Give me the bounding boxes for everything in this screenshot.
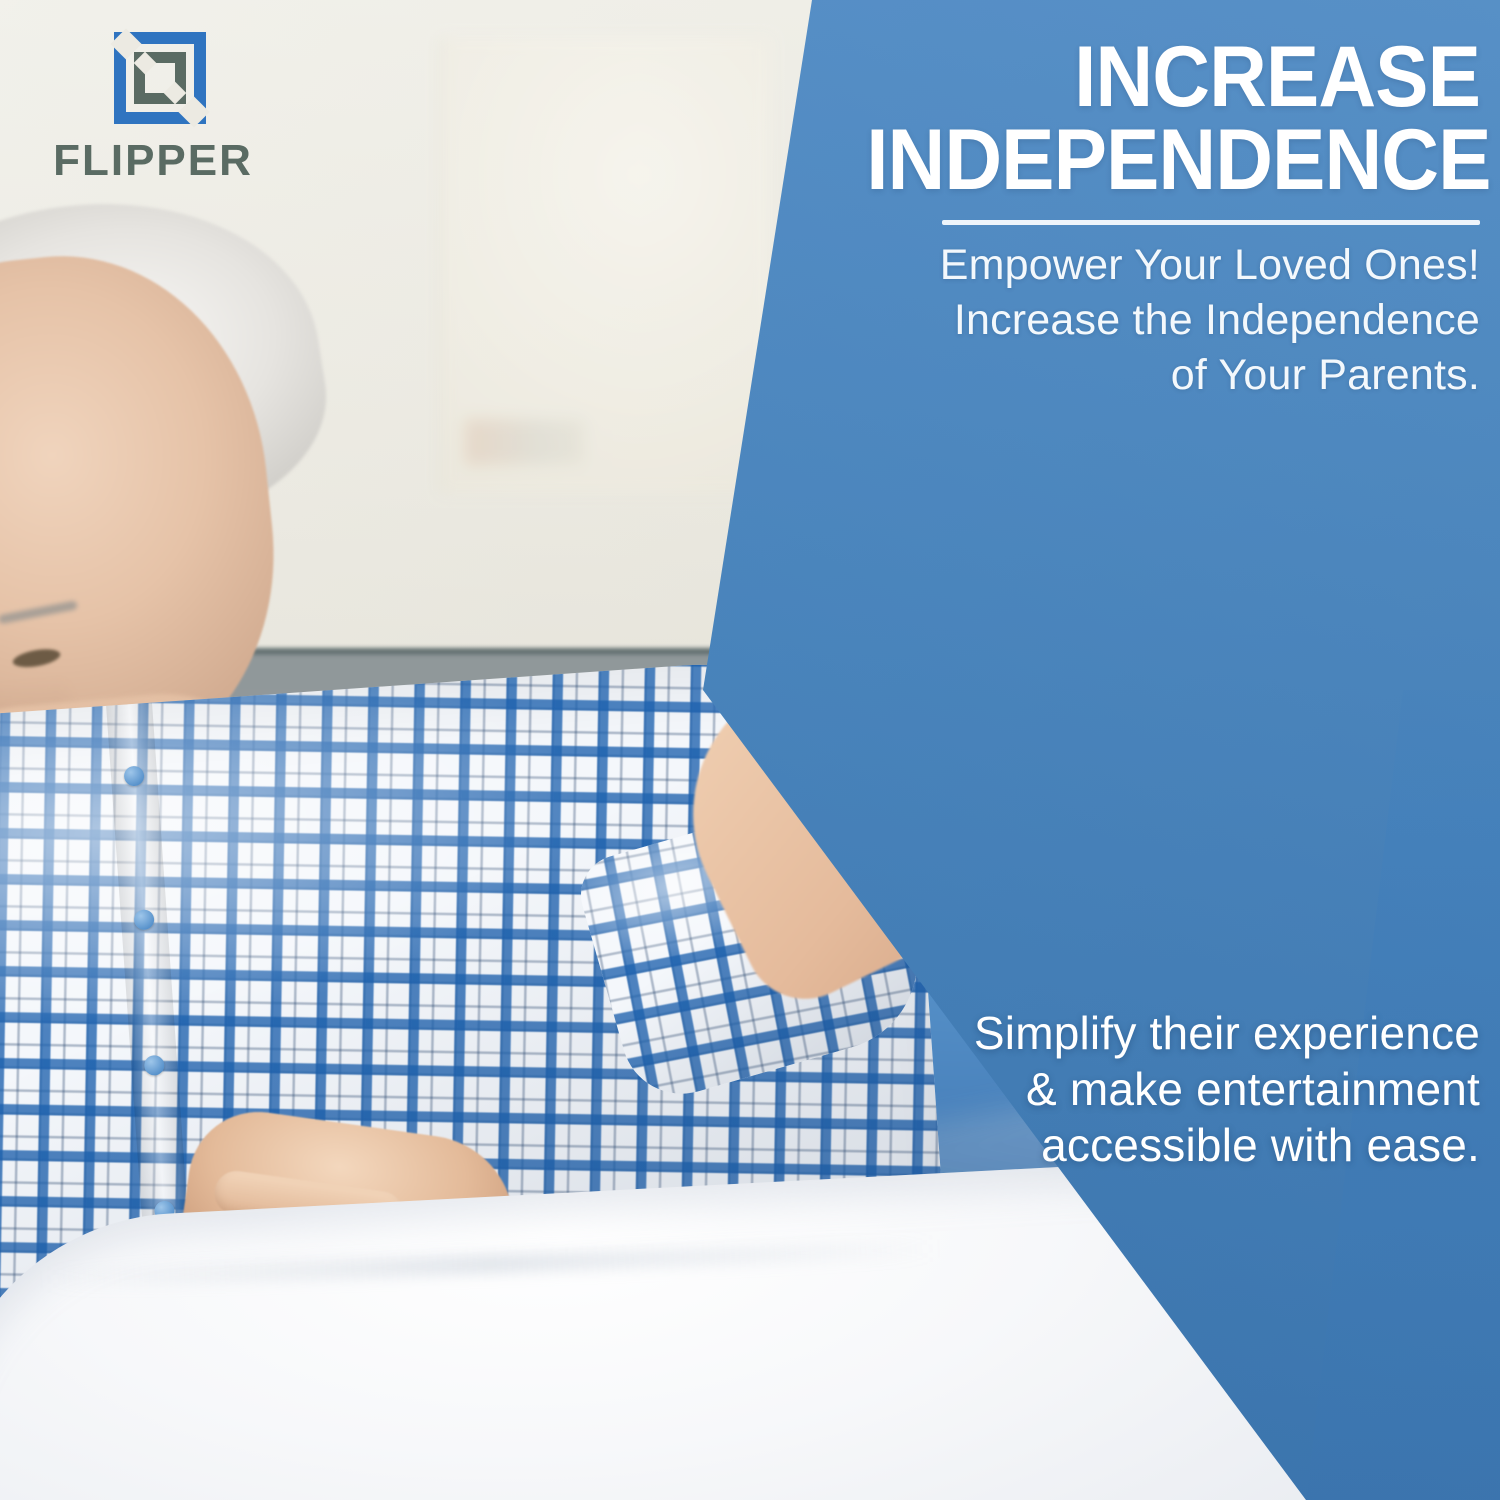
- tagline: Simplify their experience & make enterta…: [760, 1005, 1480, 1173]
- headline-line-1: INCREASE: [866, 36, 1480, 119]
- tagline-line-2: & make entertainment: [760, 1061, 1480, 1117]
- headline-line-2: INDEPENDENCE: [866, 119, 1480, 202]
- tagline-line-1: Simplify their experience: [760, 1005, 1480, 1061]
- subheading: Empower Your Loved Ones! Increase the In…: [780, 238, 1480, 403]
- headline-divider: [942, 220, 1480, 225]
- brand-name: FLIPPER: [28, 136, 278, 186]
- tagline-line-3: accessible with ease.: [760, 1117, 1480, 1173]
- subheading-line-3: of Your Parents.: [780, 348, 1480, 403]
- promo-banner: INCREASE INDEPENDENCE Empower Your Loved…: [0, 0, 1500, 1500]
- headline: INCREASE INDEPENDENCE: [866, 36, 1480, 203]
- logo-inner-notch-top-left: [134, 52, 157, 75]
- eye-right: [12, 646, 62, 670]
- logo-inner-square: [134, 52, 186, 104]
- eyebrow-right: [0, 600, 78, 624]
- flipper-square-logo-icon: [114, 32, 206, 124]
- brand-logo: FLIPPER: [28, 32, 278, 192]
- subheading-line-2: Increase the Independence: [780, 293, 1480, 348]
- logo-inner-notch-bottom-right: [164, 82, 187, 105]
- subheading-line-1: Empower Your Loved Ones!: [780, 238, 1480, 293]
